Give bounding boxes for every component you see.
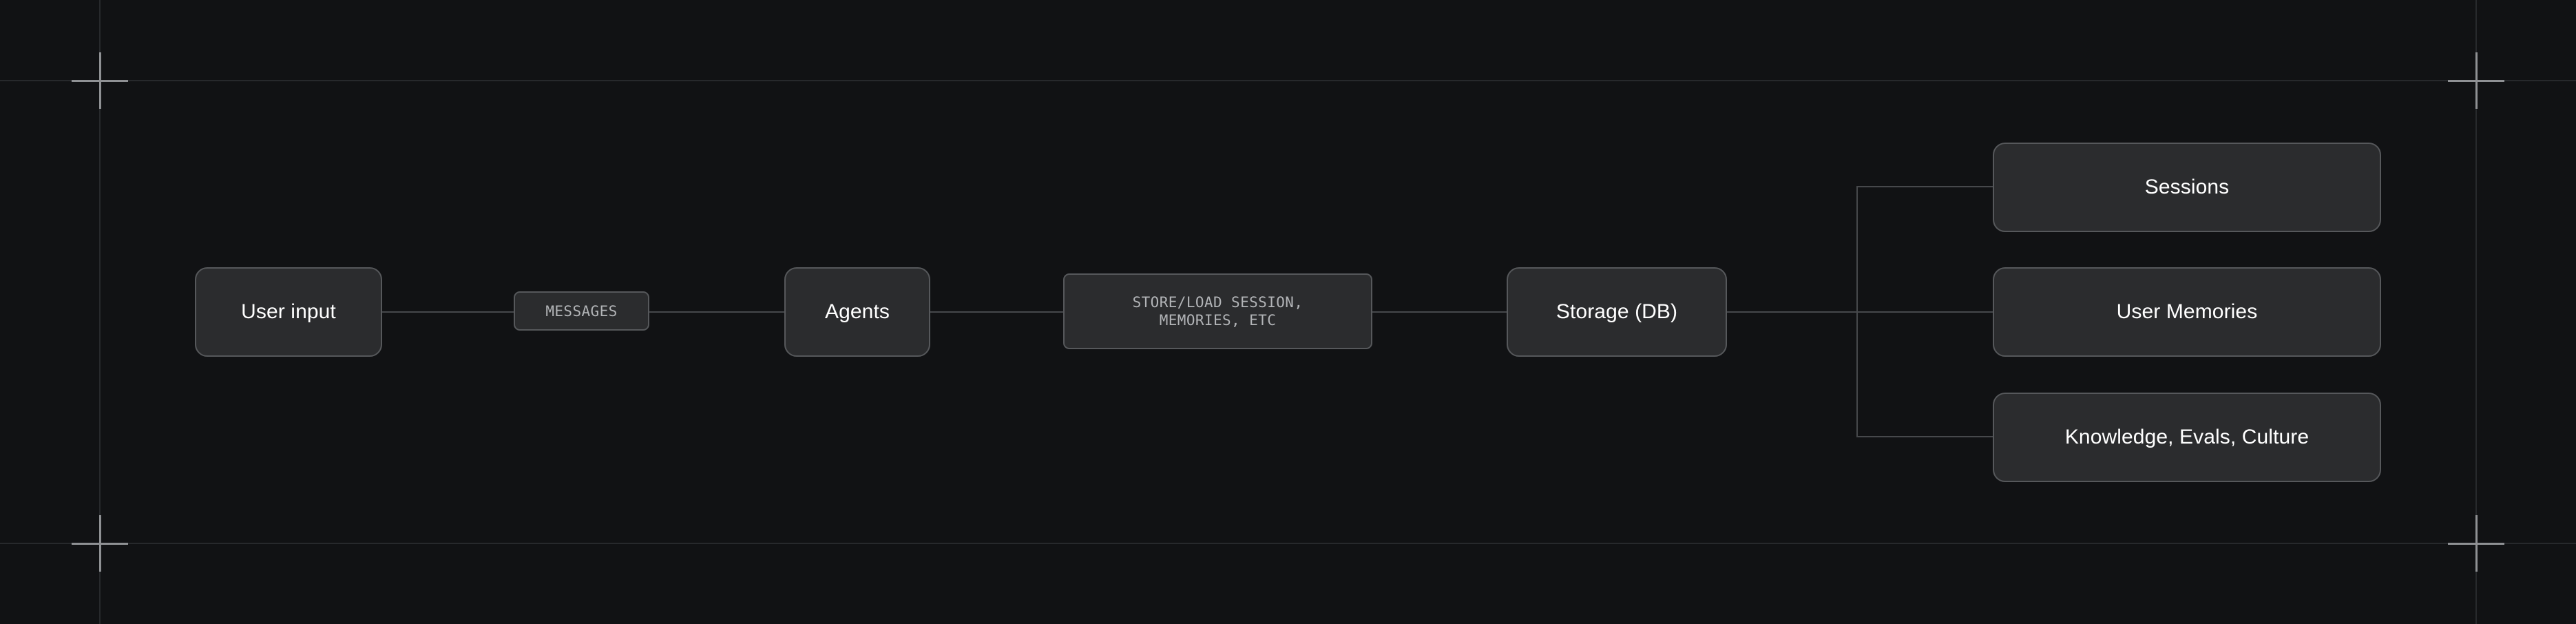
node-knowledge-evals-culture[interactable]: Knowledge, Evals, Culture — [1993, 393, 2381, 482]
crosshair-top-left-icon — [100, 81, 101, 81]
node-storage-db[interactable]: Storage (DB) — [1507, 267, 1727, 357]
node-user-memories[interactable]: User Memories — [1993, 267, 2381, 357]
edge-user-input-to-messages — [382, 311, 515, 313]
guide-line-bottom — [0, 543, 2576, 544]
node-knowledge-evals-culture-label: Knowledge, Evals, Culture — [2065, 426, 2309, 449]
node-agents[interactable]: Agents — [784, 267, 930, 357]
crosshair-bottom-right-icon — [2476, 543, 2477, 544]
crosshair-bottom-left-icon — [100, 543, 101, 544]
node-agents-label: Agents — [825, 300, 890, 324]
edge-storage-to-trunk — [1727, 311, 1858, 313]
edge-label-store-load-text: STORE/LOAD SESSION, MEMORIES, ETC — [1133, 293, 1303, 329]
edge-label-store-load[interactable]: STORE/LOAD SESSION, MEMORIES, ETC — [1063, 273, 1372, 349]
guide-line-top — [0, 80, 2576, 81]
edge-messages-to-agents — [648, 311, 786, 313]
node-sessions[interactable]: Sessions — [1993, 143, 2381, 232]
edge-agents-to-store-load — [930, 311, 1065, 313]
edge-label-messages[interactable]: MESSAGES — [514, 291, 649, 331]
diagram-canvas[interactable]: User input Agents Storage (DB) Sessions … — [0, 0, 2576, 624]
edge-label-messages-text: MESSAGES — [545, 302, 617, 320]
edge-store-load-to-storage — [1371, 311, 1508, 313]
edge-trunk-to-knowledge — [1856, 436, 1994, 437]
edge-trunk-to-sessions — [1856, 186, 1994, 187]
node-user-input[interactable]: User input — [195, 267, 382, 357]
crosshair-top-right-icon — [2476, 81, 2477, 81]
node-sessions-label: Sessions — [2145, 176, 2230, 199]
node-storage-db-label: Storage (DB) — [1556, 300, 1677, 324]
edge-trunk-to-user-memories — [1856, 311, 1994, 313]
node-user-input-label: User input — [241, 300, 336, 324]
node-user-memories-label: User Memories — [2117, 300, 2258, 324]
